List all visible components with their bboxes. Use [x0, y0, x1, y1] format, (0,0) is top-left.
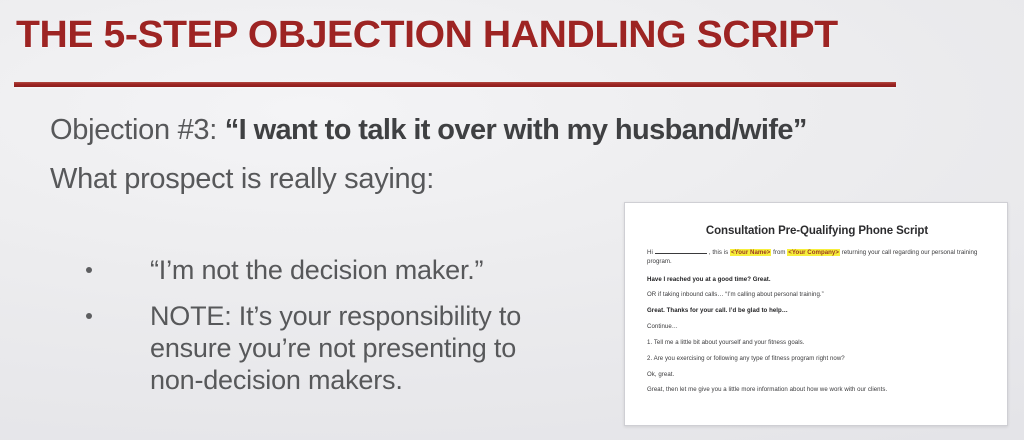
- intro-part-3: from: [771, 249, 787, 256]
- document-title: Consultation Pre-Qualifying Phone Script: [647, 225, 987, 237]
- document-line: Have I reached you at a good time? Great…: [647, 276, 987, 285]
- document-line: 1. Tell me a little bit about yourself a…: [647, 339, 987, 348]
- title-divider-rule: [14, 82, 896, 87]
- list-item-label: NOTE: It’s your responsibility to ensure…: [150, 301, 556, 397]
- placeholder-your-company: <Your Company>: [787, 249, 840, 256]
- intro-part-2: , this is: [709, 249, 730, 256]
- document-line: Ok, great.: [647, 371, 987, 380]
- slide-canvas: THE 5-STEP OBJECTION HANDLING SCRIPT Obj…: [0, 0, 1024, 440]
- intro-part-1: Hi: [647, 249, 653, 256]
- objection-quote: “I want to talk it over with my husband/…: [225, 114, 807, 146]
- list-item: “I’m not the decision maker.”: [86, 255, 556, 287]
- document-line: 2. Are you exercising or following any t…: [647, 355, 987, 364]
- objection-heading: Objection #3: “I want to talk it over wi…: [50, 114, 807, 147]
- bullet-dot-icon: [86, 313, 92, 319]
- document-thumbnail[interactable]: Consultation Pre-Qualifying Phone Script…: [624, 202, 1008, 426]
- document-intro-paragraph: Hi, this is <Your Name> from <Your Compa…: [647, 247, 987, 267]
- document-line: Continue…: [647, 323, 987, 332]
- document-line: Great. Thanks for your call. I’d be glad…: [647, 307, 987, 316]
- list-item: NOTE: It’s your responsibility to ensure…: [86, 301, 556, 397]
- page-title: THE 5-STEP OBJECTION HANDLING SCRIPT: [16, 14, 838, 57]
- document-line: Great, then let me give you a little mor…: [647, 386, 987, 395]
- document-line: OR if taking inbound calls… “I’m calling…: [647, 291, 987, 300]
- bullet-dot-icon: [86, 267, 92, 273]
- document-page: Consultation Pre-Qualifying Phone Script…: [625, 203, 1007, 395]
- objection-label: Objection #3:: [50, 114, 225, 146]
- subheading: What prospect is really saying:: [50, 163, 434, 196]
- bullet-list: “I’m not the decision maker.” NOTE: It’s…: [86, 255, 556, 410]
- blank-fill-line: [655, 247, 707, 254]
- placeholder-your-name: <Your Name>: [730, 249, 771, 256]
- list-item-label: “I’m not the decision maker.”: [150, 255, 556, 287]
